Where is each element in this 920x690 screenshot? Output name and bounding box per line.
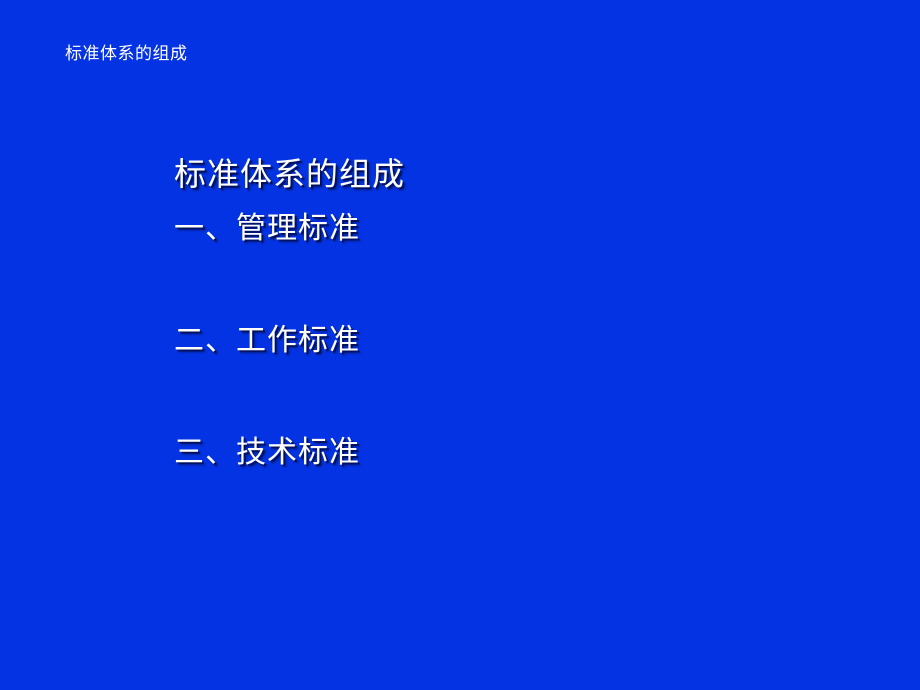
presentation-slide: 标准体系的组成 标准体系的组成 一、管理标准 二、工作标准 三、技术标准: [0, 0, 920, 690]
slide-list-item-3: 三、技术标准: [174, 432, 874, 474]
slide-content-body: 标准体系的组成 一、管理标准 二、工作标准 三、技术标准: [174, 152, 874, 474]
slide-header-title: 标准体系的组成: [65, 43, 188, 65]
slide-list-item-1: 一、管理标准: [174, 208, 874, 250]
slide-main-title: 标准体系的组成: [174, 152, 874, 196]
slide-list-item-2: 二、工作标准: [174, 320, 874, 362]
